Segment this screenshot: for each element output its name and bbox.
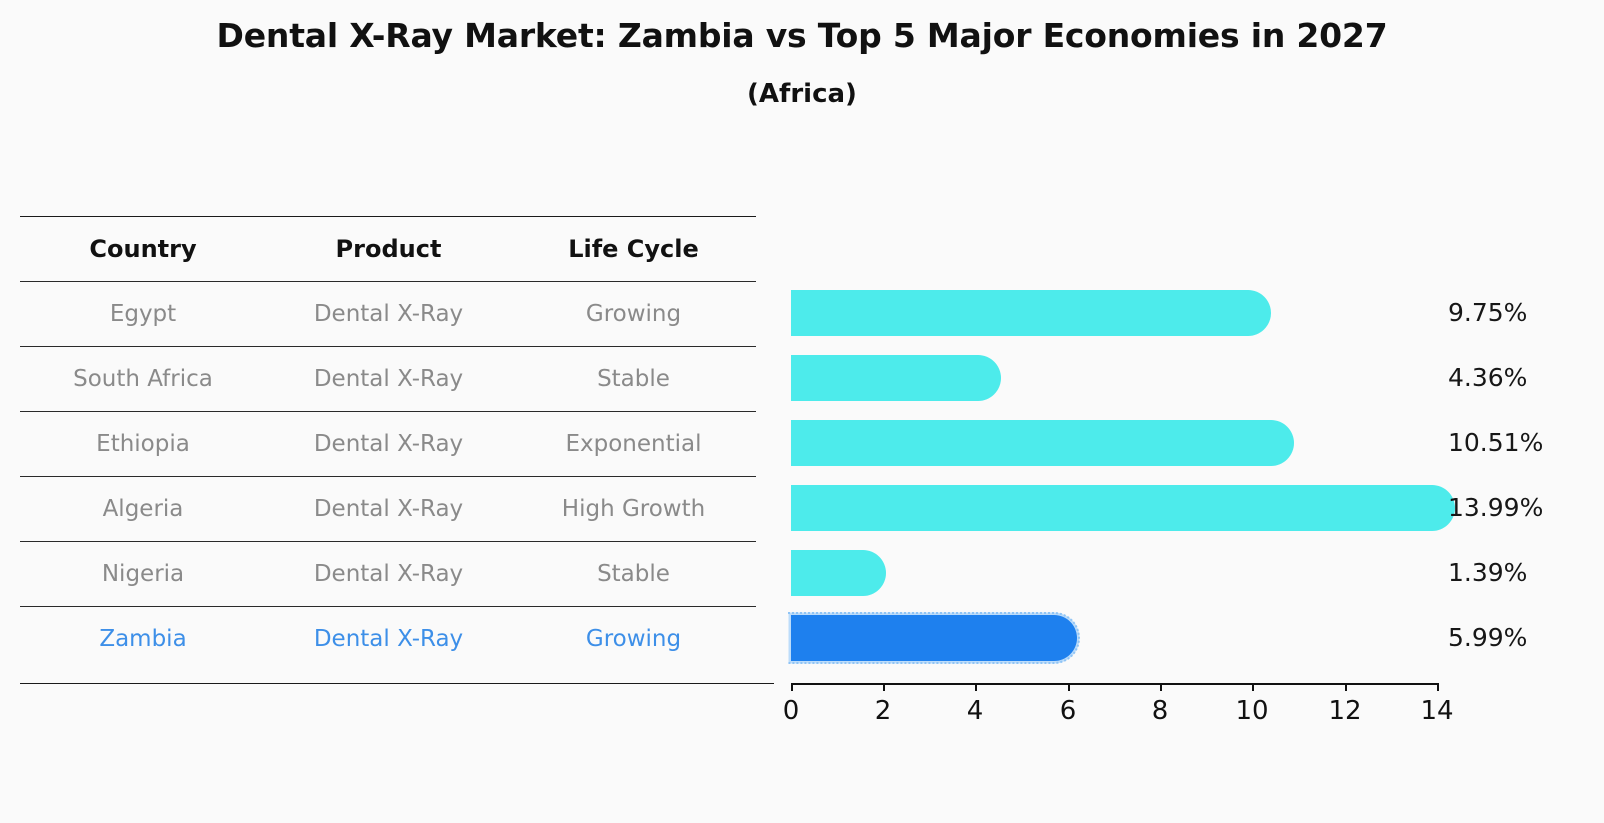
x-axis-tick-label: 4 [945, 694, 1005, 728]
x-axis-tick [1252, 683, 1254, 691]
x-axis-tick-label: 10 [1222, 694, 1282, 728]
bar-south-africa[interactable] [791, 355, 1001, 401]
x-axis-tick [1345, 683, 1347, 691]
x-axis-tick [975, 683, 977, 691]
x-axis-tick-label: 12 [1315, 694, 1375, 728]
bar-value-label: 4.36% [1448, 355, 1527, 401]
x-axis-tick-label: 2 [853, 694, 913, 728]
x-axis-tick-label: 0 [761, 694, 821, 728]
x-axis-tick [883, 683, 885, 691]
x-axis-tick [1160, 683, 1162, 691]
bar-ethiopia[interactable] [791, 420, 1294, 466]
x-axis-tick [791, 683, 793, 691]
x-axis-tick [1068, 683, 1070, 691]
bar-value-label: 5.99% [1448, 615, 1527, 661]
x-axis-line [791, 683, 1437, 685]
bar-egypt[interactable] [791, 290, 1271, 336]
bar-zambia[interactable] [791, 615, 1077, 661]
bar-zambia-outline [788, 612, 1080, 664]
x-axis-tick-label: 6 [1038, 694, 1098, 728]
bar-value-label: 10.51% [1448, 420, 1543, 466]
bar-nigeria[interactable] [791, 550, 886, 596]
x-axis-tick [1437, 683, 1439, 691]
bar-value-label: 9.75% [1448, 290, 1527, 336]
bar-algeria[interactable] [791, 485, 1455, 531]
bar-value-label: 1.39% [1448, 550, 1527, 596]
chart-page: Dental X-Ray Market: Zambia vs Top 5 Maj… [0, 0, 1604, 823]
bar-chart: 9.75% 4.36% 10.51% 13.99% 1.39% 5.99% 0 … [0, 0, 1604, 823]
table-rule-stub [756, 683, 774, 684]
x-axis-tick-label: 14 [1407, 694, 1467, 728]
x-axis-tick-label: 8 [1130, 694, 1190, 728]
bar-value-label: 13.99% [1448, 485, 1543, 531]
